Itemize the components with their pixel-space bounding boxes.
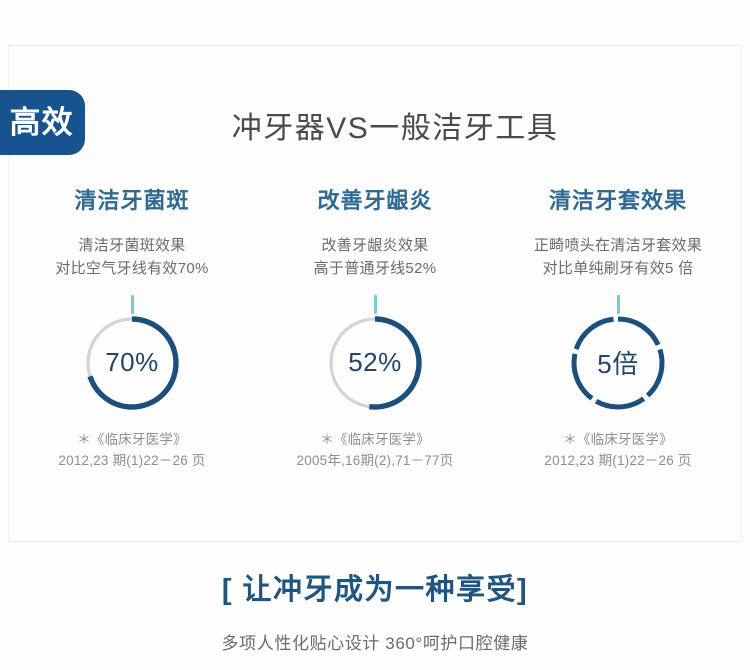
footer-headline: [ 让冲牙成为一种享受] <box>0 575 750 607</box>
benefit-description-line2: 对比单纯刷牙有效5 倍 <box>534 257 702 280</box>
footer-subtitle: 多项人性化贴心设计 360°呵护口腔健康 <box>0 629 750 654</box>
benefit-description-line2: 对比空气牙线有效70% <box>55 257 208 280</box>
benefit-description: 清洁牙菌斑效果 对比空气牙线有效70% <box>55 234 208 281</box>
citation-line2: 2012,23 期(1)22－26 页 <box>544 450 691 472</box>
donut-chart-gingivitis: 52% <box>323 311 427 415</box>
benefit-description-line1: 正畸喷头在清洁牙套效果 <box>534 234 702 257</box>
benefit-column-plaque: 清洁牙菌斑 清洁牙菌斑效果 对比空气牙线有效70% 70% ＊《临床牙医学》 2… <box>14 190 250 472</box>
benefit-columns: 清洁牙菌斑 清洁牙菌斑效果 对比空气牙线有效70% 70% ＊《临床牙医学》 2… <box>14 190 736 472</box>
citation: ＊《临床牙医学》 2012,23 期(1)22－26 页 <box>544 429 691 472</box>
citation-line1: ＊《临床牙医学》 <box>297 429 454 451</box>
citation-line1: ＊《临床牙医学》 <box>544 429 691 451</box>
benefit-description-line1: 改善牙龈炎效果 <box>314 234 437 257</box>
citation-line2: 2012,23 期(1)22－26 页 <box>58 450 205 472</box>
citation: ＊《临床牙医学》 2005年,16期(2),71－77页 <box>297 429 454 472</box>
donut-chart-plaque: 70% <box>80 311 184 415</box>
page-title: 冲牙器VS一般洁牙工具 <box>0 103 750 147</box>
benefit-description-line2: 高于普通牙线52% <box>314 257 437 280</box>
benefit-heading: 清洁牙套效果 <box>549 190 687 212</box>
footer-section: [ 让冲牙成为一种享受] 多项人性化贴心设计 360°呵护口腔健康 <box>0 575 750 654</box>
benefit-description: 正畸喷头在清洁牙套效果 对比单纯刷牙有效5 倍 <box>534 234 702 281</box>
citation: ＊《临床牙医学》 2012,23 期(1)22－26 页 <box>58 429 205 472</box>
promo-page: 高效 冲牙器VS一般洁牙工具 清洁牙菌斑 清洁牙菌斑效果 对比空气牙线有效70%… <box>0 0 750 670</box>
citation-line2: 2005年,16期(2),71－77页 <box>297 450 454 472</box>
benefit-heading: 改善牙龈炎 <box>317 190 432 212</box>
benefit-description-line1: 清洁牙菌斑效果 <box>55 234 208 257</box>
benefit-heading: 清洁牙菌斑 <box>74 190 189 212</box>
citation-line1: ＊《临床牙医学》 <box>58 429 205 451</box>
benefit-description: 改善牙龈炎效果 高于普通牙线52% <box>314 234 437 281</box>
benefit-column-gingivitis: 改善牙龈炎 改善牙龈炎效果 高于普通牙线52% 52% ＊《临床牙医学》 200… <box>257 190 493 472</box>
donut-chart-braces: 5倍 <box>566 311 670 415</box>
benefit-column-braces: 清洁牙套效果 正畸喷头在清洁牙套效果 对比单纯刷牙有效5 倍 5倍 ＊《临床牙医… <box>500 190 736 472</box>
